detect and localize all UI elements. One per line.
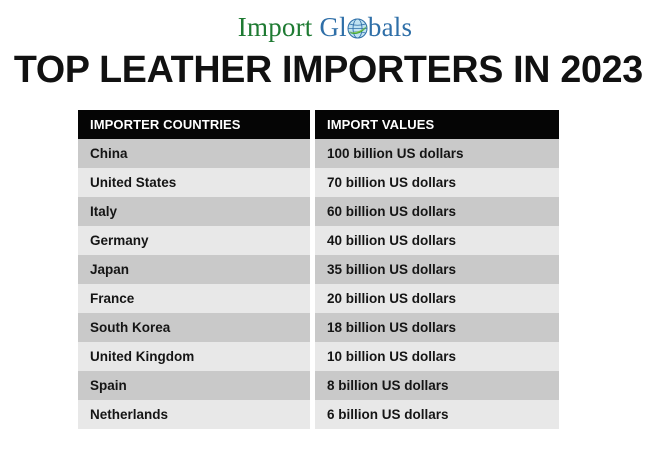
import-globals-logo: Import Gl bals <box>238 14 412 41</box>
table-row: Spain 8 billion US dollars <box>78 371 559 400</box>
table-row: United States 70 billion US dollars <box>78 168 559 197</box>
importers-table-container: IMPORTER COUNTRIES IMPORT VALUES China 1… <box>78 110 559 429</box>
cell-country: China <box>78 139 310 168</box>
cell-value: 35 billion US dollars <box>315 255 559 284</box>
logo-text-gl: Gl <box>319 14 346 41</box>
page-title: TOP LEATHER IMPORTERS IN 2023 <box>0 48 644 92</box>
cell-country: Japan <box>78 255 310 284</box>
table-row: South Korea 18 billion US dollars <box>78 313 559 342</box>
cell-country: Spain <box>78 371 310 400</box>
cell-value: 70 billion US dollars <box>315 168 559 197</box>
cell-value: 6 billion US dollars <box>315 400 559 429</box>
cell-value: 60 billion US dollars <box>315 197 559 226</box>
cell-country: United States <box>78 168 310 197</box>
column-header-import-values: IMPORT VALUES <box>315 110 559 139</box>
table-row: Italy 60 billion US dollars <box>78 197 559 226</box>
logo-text-import: Import <box>238 14 313 41</box>
cell-value: 8 billion US dollars <box>315 371 559 400</box>
infographic-page: Import Gl bals TOP LEATHER IMPORTERS IN … <box>0 0 650 450</box>
cell-country: Netherlands <box>78 400 310 429</box>
cell-country: South Korea <box>78 313 310 342</box>
cell-country: Germany <box>78 226 310 255</box>
table-row: Germany 40 billion US dollars <box>78 226 559 255</box>
table-row: Netherlands 6 billion US dollars <box>78 400 559 429</box>
cell-value: 18 billion US dollars <box>315 313 559 342</box>
cell-country: France <box>78 284 310 313</box>
importers-table: IMPORTER COUNTRIES IMPORT VALUES China 1… <box>78 110 559 429</box>
cell-value: 10 billion US dollars <box>315 342 559 371</box>
table-header-row: IMPORTER COUNTRIES IMPORT VALUES <box>78 110 559 139</box>
table-row: United Kingdom 10 billion US dollars <box>78 342 559 371</box>
cell-country: Italy <box>78 197 310 226</box>
column-header-importer-countries: IMPORTER COUNTRIES <box>78 110 310 139</box>
table-row: France 20 billion US dollars <box>78 284 559 313</box>
table-row: China 100 billion US dollars <box>78 139 559 168</box>
logo-header: Import Gl bals <box>0 0 650 48</box>
cell-value: 20 billion US dollars <box>315 284 559 313</box>
logo-text-bals: bals <box>368 14 412 41</box>
table-row: Japan 35 billion US dollars <box>78 255 559 284</box>
cell-country: United Kingdom <box>78 342 310 371</box>
cell-value: 100 billion US dollars <box>315 139 559 168</box>
cell-value: 40 billion US dollars <box>315 226 559 255</box>
globe-icon <box>347 18 368 39</box>
